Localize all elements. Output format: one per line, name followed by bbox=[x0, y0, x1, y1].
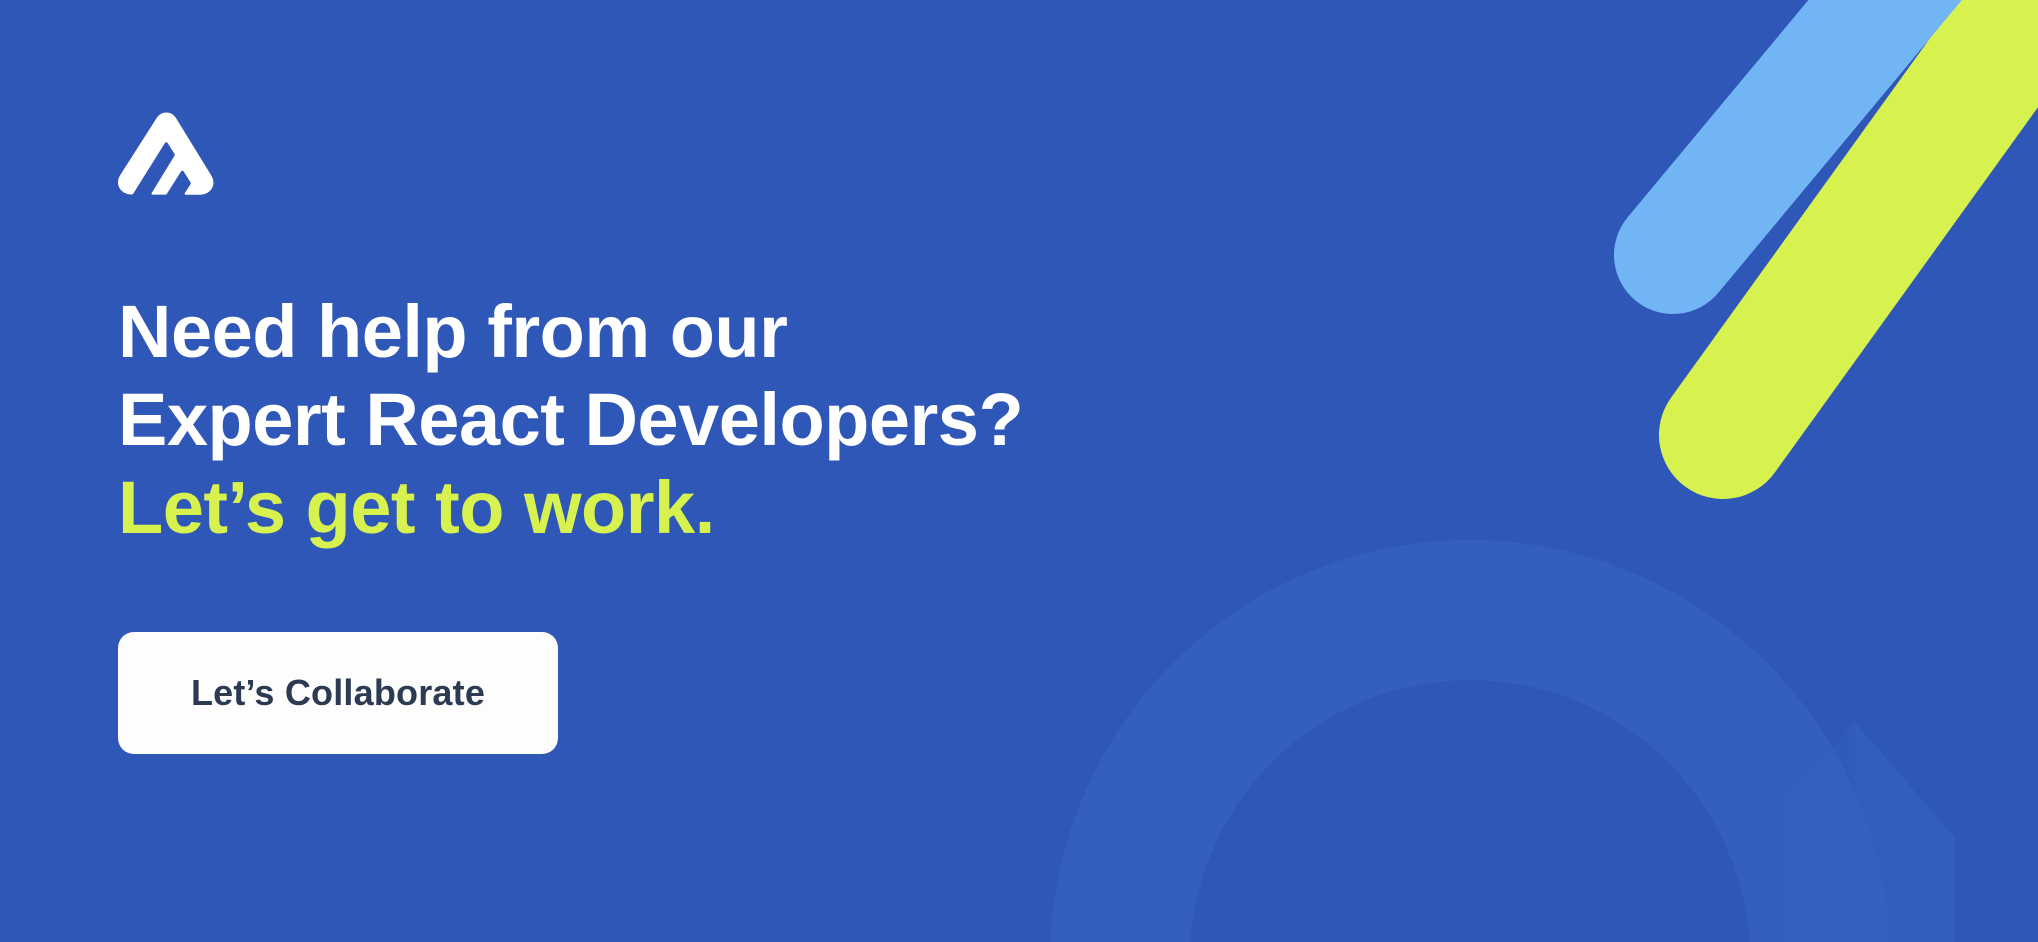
diagonal-bar-blue-icon bbox=[1673, 0, 1985, 255]
headline-line-1: Need help from our bbox=[118, 288, 1318, 376]
diagonal-bar-lime-icon bbox=[1723, 0, 2038, 435]
chevron-shape-icon bbox=[1790, 722, 1955, 942]
lets-collaborate-button[interactable]: Let’s Collaborate bbox=[118, 632, 558, 754]
cta-row: Let’s Collaborate bbox=[118, 632, 1318, 754]
brand-logo bbox=[118, 112, 214, 198]
appinventiv-a-logo-icon bbox=[118, 112, 214, 198]
headline-line-3: Let’s get to work. bbox=[118, 464, 1318, 552]
banner-content: Need help from our Expert React Develope… bbox=[118, 0, 1318, 942]
headline-line-2: Expert React Developers? bbox=[118, 376, 1318, 464]
page-title: Need help from our Expert React Develope… bbox=[118, 288, 1318, 552]
promo-banner: Need help from our Expert React Develope… bbox=[0, 0, 2038, 942]
